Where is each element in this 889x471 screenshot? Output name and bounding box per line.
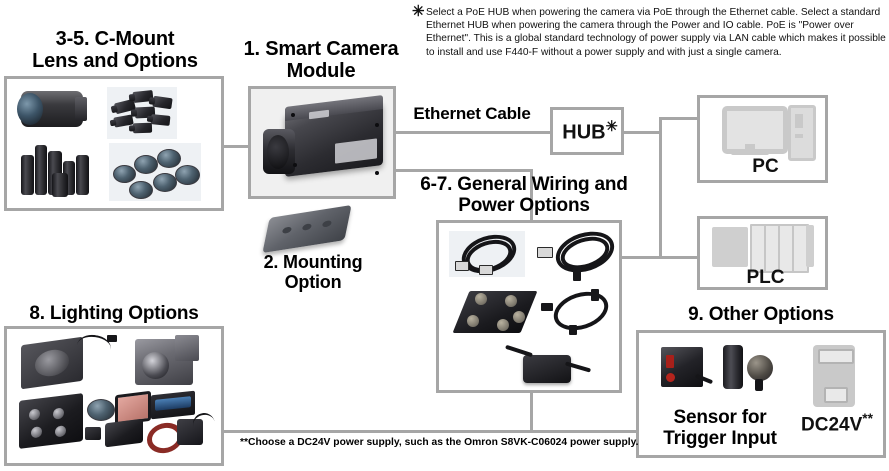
camera-screw-icon [375, 123, 379, 127]
lens-mount-ring [75, 97, 87, 121]
connector-wiring-to-plc [620, 256, 662, 259]
lens-lineup-photo [107, 87, 177, 139]
mounting-hole-icon [282, 226, 292, 234]
filter-icon [134, 155, 158, 174]
filter-icon [175, 165, 200, 185]
lens-item-icon [151, 114, 171, 126]
dc24v-footnote: **Choose a DC24V power supply, such as t… [240, 436, 640, 450]
dc24v-power-supply-icon [813, 345, 855, 407]
mounting-title-line1: 2. Mounting [238, 252, 388, 272]
sensor-label: Sensor for Trigger Input [645, 407, 795, 450]
connector-camera-to-hub [393, 131, 550, 134]
power-io-cable-photo [537, 231, 615, 283]
coaxial-light-lens [142, 352, 169, 379]
breakout-block-photo [453, 285, 537, 341]
mounting-hole-icon [302, 223, 312, 231]
connector-plug-icon [569, 325, 577, 335]
monitor-base-icon [731, 150, 769, 155]
other-options-box[interactable]: Sensor for Trigger Input DC24V** [636, 330, 886, 458]
coaxial-light-arm [175, 335, 199, 361]
lens-barrel-icon [76, 155, 89, 195]
proximity-sensor-lead-icon [755, 379, 763, 391]
plc-cpu-icon [712, 227, 748, 267]
lens-barrel-icon [35, 145, 47, 195]
sensor-emitter-window [666, 355, 674, 368]
connector-wiring-to-bottom [530, 391, 533, 432]
filter-icon [129, 181, 153, 199]
spot-light-box-icon [19, 393, 83, 449]
terminal-port-icon [475, 293, 487, 305]
connector-plug-icon [541, 303, 553, 311]
plc-end-cover-icon [806, 225, 814, 267]
pc-tower-icon [788, 105, 816, 161]
io-cable-photo [539, 289, 615, 341]
spot-light-emitter-icon [55, 425, 66, 437]
wiring-options-box[interactable] [436, 220, 622, 393]
lens-block-title: 3-5. C-Mount Lens and Options [10, 28, 220, 73]
terminal-port-icon [497, 319, 509, 331]
connector-right-bus [659, 117, 662, 259]
wiring-title-line2: Power Options [404, 195, 644, 216]
camera-block-title: 1. Smart Camera Module [236, 38, 406, 83]
ring-light-aperture [35, 347, 70, 378]
adapter-cable-icon [505, 345, 533, 357]
lens-barrel-group-photo [19, 141, 95, 203]
terminal-block-icon [453, 291, 538, 333]
small-mount-icon [85, 427, 101, 440]
cylindrical-sensor-icon [723, 345, 743, 389]
pc-tower-slot-icon [795, 114, 803, 128]
mounting-hole-icon [322, 220, 332, 228]
terminal-port-icon [467, 315, 479, 327]
connector-camera-to-wiring-h [393, 169, 533, 172]
connector-bus-to-pc [659, 117, 699, 120]
hub-superscript: ✳ [606, 119, 618, 135]
mounting-plate-photo [262, 205, 351, 253]
connector-bottom-bus [222, 430, 638, 433]
terminal-port-icon [513, 311, 525, 323]
camera-screw-icon [375, 171, 379, 175]
note-text: Select a PoE HUB when powering the camer… [426, 6, 886, 59]
ethernet-cable-label: Ethernet Cable [396, 104, 548, 123]
filter-icon [113, 165, 136, 183]
lens-item-icon [133, 123, 152, 134]
rj45-plug-icon [479, 265, 493, 275]
power-adapter-photo [503, 343, 595, 389]
rj45-plug-icon [455, 261, 469, 271]
mounting-title-line2: Option [238, 272, 388, 292]
wire-leads-icon [537, 247, 553, 258]
psu-adjust-dial-icon [824, 387, 848, 403]
lens-title-line2: Lens and Options [10, 50, 220, 72]
bar-light-emitter [155, 396, 190, 411]
connector-lens-to-camera [222, 145, 250, 148]
coiled-cable-icon [549, 285, 613, 337]
spot-light-emitter-icon [31, 426, 42, 438]
other-options-title: 9. Other Options [636, 304, 886, 325]
light-housing-icon [105, 419, 143, 448]
dc24v-footnote-text: **Choose a DC24V power supply, such as t… [250, 436, 640, 450]
lens-options-box[interactable] [4, 76, 224, 211]
lighting-block-title: 8. Lighting Options [4, 303, 224, 324]
pc-tower-slot-icon [795, 134, 803, 138]
camera-screw-icon [293, 163, 297, 167]
polarizing-filter-icon [87, 399, 115, 421]
camera-title-line1: 1. Smart Camera [236, 38, 406, 60]
filter-icon [153, 173, 177, 192]
poe-note: ✳ Select a PoE HUB when powering the cam… [412, 6, 886, 59]
sensor-label-line2: Trigger Input [645, 428, 795, 449]
lighting-options-box[interactable] [4, 326, 224, 466]
dc24v-label: DC24V** [789, 411, 885, 436]
lens-barrel-icon [52, 173, 68, 197]
plc-label: PLC [700, 267, 831, 289]
m12-connector-icon [573, 267, 581, 281]
wiring-title-line1: 6-7. General Wiring and [404, 174, 644, 195]
monitor-icon [722, 106, 788, 154]
ac-adapter-icon [523, 355, 571, 383]
lens-item-icon [152, 96, 172, 110]
terminal-port-icon [505, 295, 517, 307]
lens-barrel-icon [21, 155, 34, 195]
note-star-marker: ✳ [412, 5, 425, 18]
plc-box[interactable]: PLC [697, 216, 828, 290]
lens-filters-photo [109, 143, 201, 201]
camera-title-line2: Module [236, 60, 406, 82]
sensor-label-line1: Sensor for [645, 407, 795, 428]
hub-box[interactable]: HUB✳ [550, 107, 624, 155]
pc-label: PC [700, 156, 831, 178]
lens-title-line1: 3-5. C-Mount [10, 28, 220, 50]
smart-camera-box[interactable] [248, 86, 396, 199]
light-connector-icon [107, 335, 117, 342]
mounting-block-title: 2. Mounting Option [238, 252, 388, 292]
camera-lens-barrel [263, 129, 295, 174]
connector-bus-to-plc [659, 256, 699, 259]
spot-light-emitter-icon [53, 407, 64, 419]
pc-box[interactable]: PC [697, 95, 828, 183]
hub-label-text: HUB [562, 122, 605, 144]
ethernet-cable-photo [449, 231, 525, 277]
dc24v-label-text: DC24V [801, 414, 862, 435]
ring-light-icon [21, 337, 83, 390]
wiring-block-title: 6-7. General Wiring and Power Options [404, 174, 644, 217]
lens-front-element-icon [17, 93, 43, 125]
hub-label: HUB✳ [553, 119, 627, 145]
proximity-sensor-icon [747, 355, 773, 381]
bar-light-icon [151, 391, 195, 420]
dc24v-superscript: ** [862, 411, 873, 426]
spot-light-emitter-icon [29, 408, 40, 420]
psu-terminal-block-icon [818, 349, 854, 364]
sensor-indicator-led [666, 373, 675, 382]
camera-screw-icon [291, 113, 295, 117]
filter-icon [157, 149, 181, 168]
connector-plug-icon [591, 289, 599, 301]
connector-hub-to-bus [623, 131, 662, 134]
